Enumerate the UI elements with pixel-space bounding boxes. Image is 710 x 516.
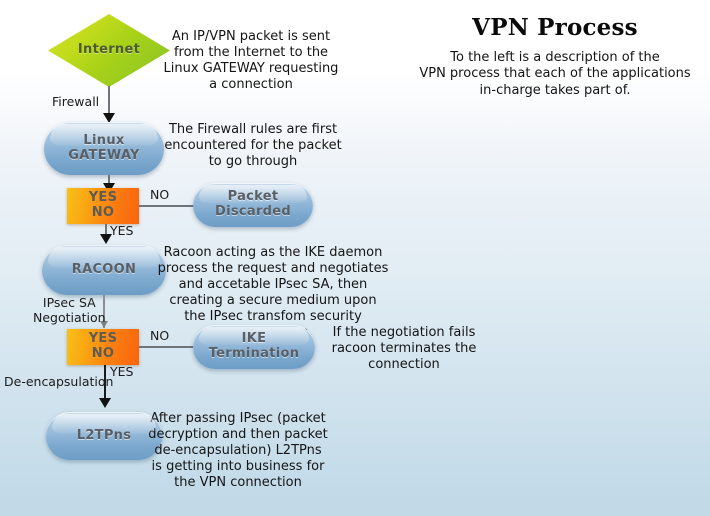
node-l2tpns-label: L2TPns: [77, 429, 132, 444]
connector-decision1-packet-discarded: [139, 205, 195, 207]
edge-label-de-encapsulation: De-encapsulation: [4, 375, 113, 390]
edge-label-ipsec-sa-negotiation: IPsec SA Negotiation: [33, 296, 106, 326]
node-internet[interactable]: Internet: [48, 14, 170, 87]
description-internet: An IP/VPN packet is sent from the Intern…: [158, 29, 344, 93]
vpn-process-panel: VPN Process To the left is a description…: [406, 14, 704, 99]
node-l2tpns[interactable]: L2TPns: [46, 412, 162, 460]
node-racoon-label: RACOON: [72, 263, 136, 278]
description-gateway: The Firewall rules are first encountered…: [160, 122, 346, 170]
edge-label-yes-1: YES: [110, 224, 133, 239]
node-decision-firewall[interactable]: YES NO: [67, 188, 139, 224]
node-decision-negotiation[interactable]: YES NO: [67, 329, 139, 365]
description-l2tpns: After passing IPsec (packet decryption a…: [148, 411, 328, 491]
node-decision-firewall-label: YES NO: [89, 191, 118, 220]
node-ike-termination[interactable]: IKE Termination: [193, 325, 315, 369]
edge-label-firewall: Firewall: [52, 95, 99, 110]
description-ike-termination: If the negotiation fails racoon terminat…: [314, 325, 494, 373]
page-title: VPN Process: [406, 14, 704, 41]
panel-subtitle: To the left is a description of the VPN …: [406, 50, 704, 99]
node-ike-termination-label: IKE Termination: [209, 332, 300, 361]
node-decision-negotiation-label: YES NO: [89, 332, 118, 361]
edge-label-yes-2: YES: [110, 365, 133, 380]
arrowhead-decision2-l2tpns: [99, 398, 111, 408]
edge-label-no-1: NO: [150, 188, 169, 203]
vpn-process-diagram: VPN Process To the left is a description…: [0, 0, 710, 516]
connector-decision2-ike-termination: [139, 346, 195, 348]
node-internet-label: Internet: [78, 43, 140, 58]
node-packet-discarded[interactable]: Packet Discarded: [193, 183, 313, 227]
edge-label-no-2: NO: [150, 329, 169, 344]
node-linux-gateway-label: Linux GATEWAY: [68, 134, 140, 163]
node-racoon[interactable]: RACOON: [42, 245, 166, 295]
node-packet-discarded-label: Packet Discarded: [215, 190, 291, 219]
node-linux-gateway[interactable]: Linux GATEWAY: [44, 122, 164, 175]
